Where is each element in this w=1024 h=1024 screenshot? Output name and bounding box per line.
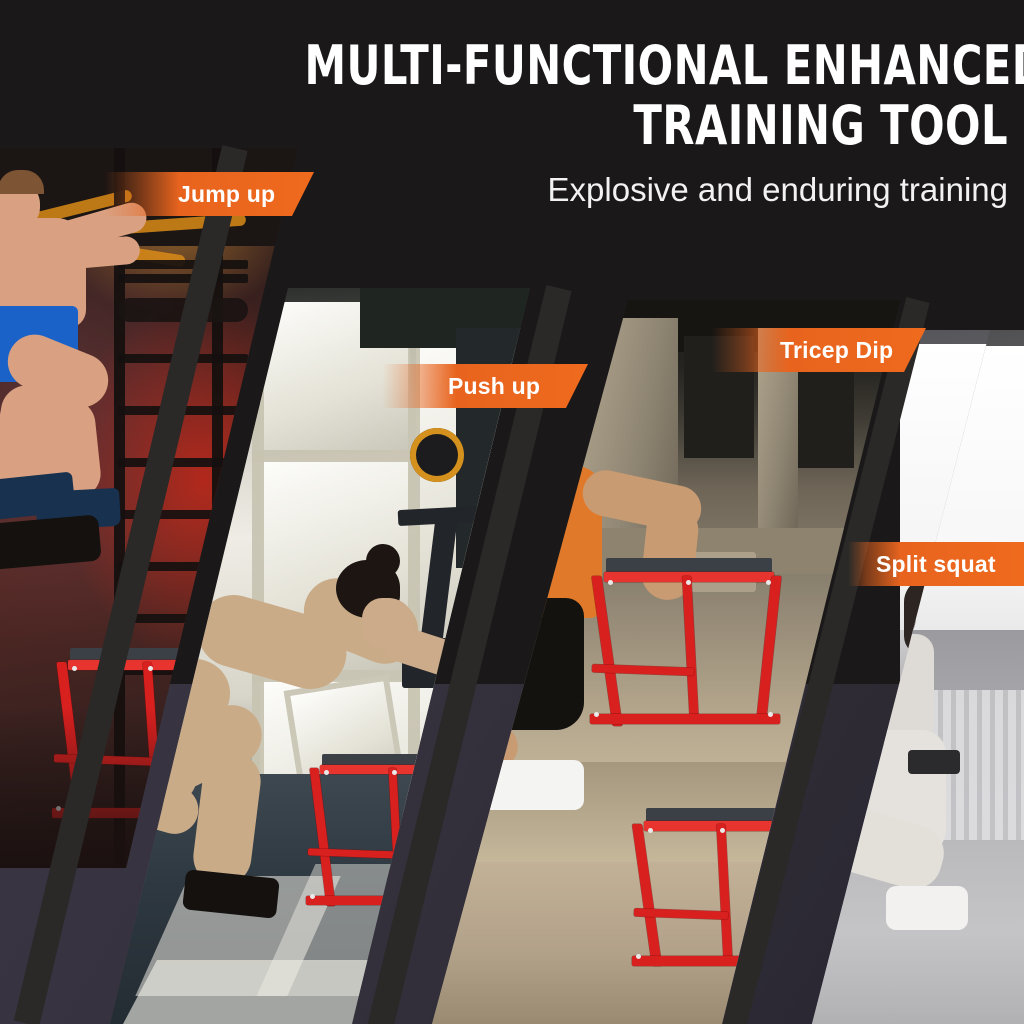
badge-tricep-dip: Tricep Dip — [712, 328, 926, 372]
badge-jump-up-label: Jump up — [178, 181, 275, 208]
badge-push-up-label: Push up — [448, 373, 540, 400]
badge-split-squat-label: Split squat — [876, 551, 996, 578]
plyo-box-dip — [590, 558, 780, 754]
badge-push-up: Push up — [382, 364, 588, 408]
badge-jump-up: Jump up — [104, 172, 314, 216]
product-banner: MULTI-FUNCTIONAL ENHANCED TRAINING TOOL … — [0, 0, 1024, 1024]
badge-tricep-dip-label: Tricep Dip — [780, 337, 893, 364]
badge-split-squat: Split squat — [848, 542, 1024, 586]
